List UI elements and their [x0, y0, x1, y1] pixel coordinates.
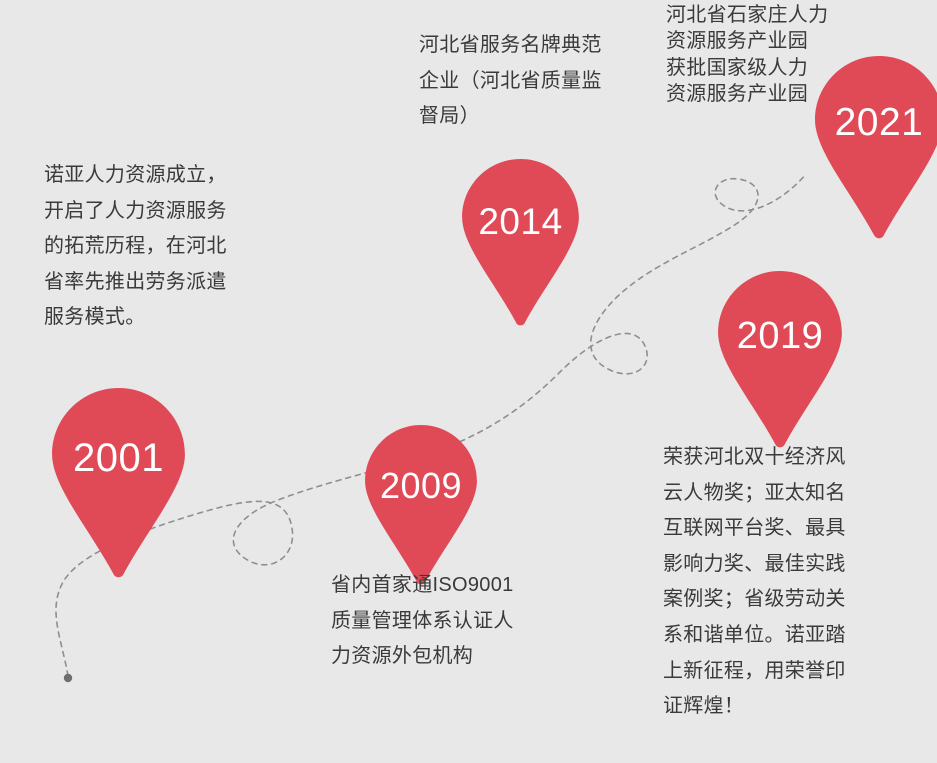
- milestone-2019-year: 2019: [718, 317, 842, 355]
- milestone-2014-description: 河北省服务名牌典范 企业（河北省质量监 督局）: [419, 28, 641, 135]
- milestone-2019-description: 荣获河北双十经济风 云人物奖；亚太知名 互联网平台奖、最具 影响力奖、最佳实践 …: [663, 440, 893, 725]
- map-marker-icon: [718, 271, 842, 448]
- milestone-2021-description: 河北省石家庄人力 资源服务产业园 获批国家级人力 资源服务产业园: [666, 2, 884, 108]
- milestone-2014-pin[interactable]: 2014: [462, 159, 579, 326]
- map-marker-icon: [52, 388, 185, 578]
- milestone-2014-year: 2014: [462, 203, 579, 240]
- milestone-2009-pin[interactable]: 2009: [365, 425, 477, 585]
- milestone-2001-pin[interactable]: 2001: [52, 388, 185, 578]
- milestone-2009-year: 2009: [365, 468, 477, 504]
- milestone-2001-year: 2001: [52, 438, 185, 478]
- milestone-2019-pin[interactable]: 2019: [718, 271, 842, 448]
- connector-start-dot: [64, 674, 72, 682]
- timeline-infographic: 诺亚人力资源成立， 开启了人力资源服务 的拓荒历程，在河北 省率先推出劳务派遣 …: [0, 0, 937, 763]
- milestone-2021-year: 2021: [815, 103, 937, 142]
- map-marker-icon: [462, 159, 579, 326]
- milestone-2009-description: 省内首家通ISO9001 质量管理体系认证人 力资源外包机构: [331, 568, 563, 675]
- milestone-2001-description: 诺亚人力资源成立， 开启了人力资源服务 的拓荒历程，在河北 省率先推出劳务派遣 …: [44, 158, 274, 336]
